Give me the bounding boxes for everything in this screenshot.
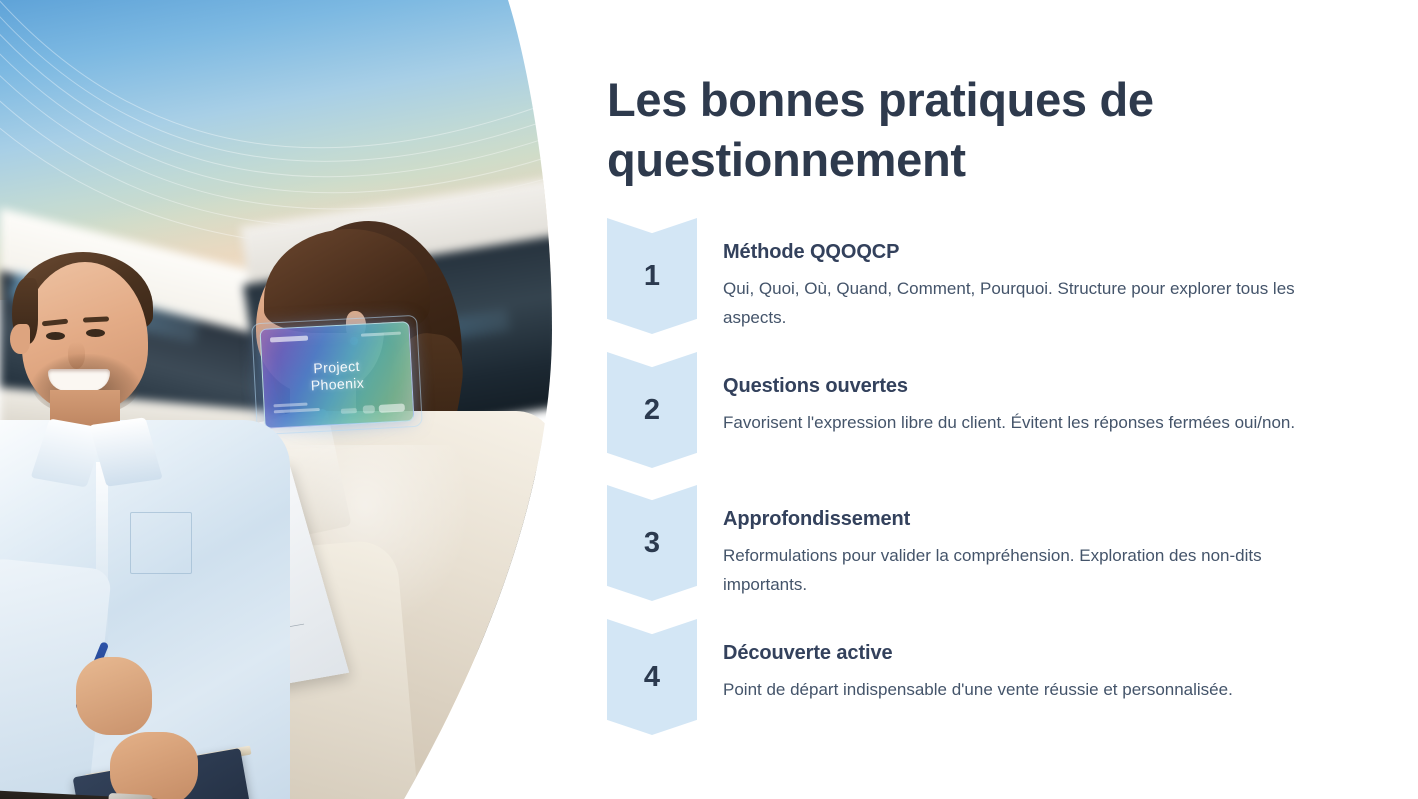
man-eye-right: [86, 329, 105, 337]
step-badge-2: 2: [607, 348, 697, 481]
step-number: 2: [607, 352, 697, 468]
page-title: Les bonnes pratiques de questionnement: [607, 70, 1167, 190]
step-number: 3: [607, 485, 697, 601]
hologram-title-line1: Project: [313, 358, 360, 376]
man-nose: [68, 342, 85, 369]
list-item-description: Qui, Quoi, Où, Quand, Comment, Pourquoi.…: [723, 274, 1343, 332]
list-item-title: Questions ouvertes: [723, 373, 1367, 399]
hero-photo: Project Phoenix: [0, 0, 560, 799]
hologram-title-line2: Phoenix: [310, 375, 364, 394]
hologram-control-2: [363, 405, 375, 414]
hologram-control-3: [341, 408, 357, 414]
list-item-description: Point de départ indispensable d'une vent…: [723, 675, 1343, 704]
step-number: 1: [607, 218, 697, 334]
list-item: 1 Méthode QQOQCP Qui, Quoi, Où, Quand, C…: [607, 214, 1367, 348]
man-ear: [10, 324, 30, 354]
list-item: 2 Questions ouvertes Favorisent l'expres…: [607, 348, 1367, 481]
step-badge-1: 1: [607, 214, 697, 348]
content-column: Les bonnes pratiques de questionnement 1…: [607, 0, 1418, 799]
list-item-title: Découverte active: [723, 640, 1367, 666]
list-item-body: Méthode QQOQCP Qui, Quoi, Où, Quand, Com…: [697, 214, 1367, 332]
man-smile: [48, 369, 110, 391]
man-hand-lower: [110, 732, 198, 799]
list-item-body: Découverte active Point de départ indisp…: [697, 615, 1367, 704]
list-item-description: Reformulations pour valider la compréhen…: [723, 541, 1343, 599]
list-item-description: Favorisent l'expression libre du client.…: [723, 408, 1343, 437]
hologram-control-1: [379, 404, 405, 413]
man-shirt-pocket: [130, 512, 192, 574]
man-hand-upper: [76, 657, 152, 735]
step-badge-4: 4: [607, 615, 697, 714]
man-eye-left: [46, 332, 65, 340]
person-man: [0, 262, 310, 799]
slide-root: Project Phoenix: [0, 0, 1418, 799]
list-item-body: Questions ouvertes Favorisent l'expressi…: [697, 348, 1367, 437]
list-item: 3 Approfondissement Reformulations pour …: [607, 481, 1367, 615]
list-item-body: Approfondissement Reformulations pour va…: [697, 481, 1367, 599]
list-item-title: Approfondissement: [723, 506, 1367, 532]
step-badge-3: 3: [607, 481, 697, 615]
hologram-meta-topright: [361, 332, 401, 337]
list-item-title: Méthode QQOQCP: [723, 239, 1367, 265]
practices-list: 1 Méthode QQOQCP Qui, Quoi, Où, Quand, C…: [607, 214, 1367, 714]
step-number: 4: [607, 619, 697, 735]
list-item: 4 Découverte active Point de départ indi…: [607, 615, 1367, 714]
hero-photo-panel: Project Phoenix: [0, 0, 560, 799]
